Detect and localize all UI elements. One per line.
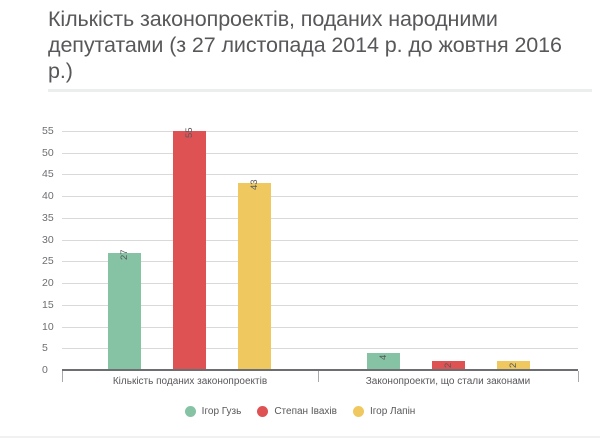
gridline (62, 153, 578, 154)
y-axis-tick-label: 15 (42, 299, 92, 311)
x-axis-category-label: Законопроекти, що стали законами (318, 376, 578, 387)
legend-label: Ігор Гузь (202, 406, 242, 417)
bar[interactable] (238, 183, 271, 370)
bar-value-label: 27 (119, 249, 130, 260)
chart-legend: Ігор ГузьСтепан ІвахівІгор Лапін (0, 406, 600, 417)
x-axis-category-label: Кількість поданих законопроектів (62, 376, 318, 387)
y-axis-tick-label: 10 (42, 321, 92, 333)
gridline (62, 131, 578, 132)
y-axis-tick-label: 40 (42, 190, 92, 202)
legend-swatch-icon (353, 406, 364, 417)
y-axis-tick-label: 20 (42, 277, 92, 289)
title-divider (48, 89, 592, 92)
page-title: Кількість законопроектів, поданих народн… (48, 6, 588, 84)
bar-value-label: 2 (508, 363, 519, 368)
bar-value-label: 2 (443, 363, 454, 368)
bar-value-label: 55 (184, 127, 195, 138)
x-axis-tick (578, 371, 579, 382)
gridline (62, 174, 578, 175)
bar-value-label: 43 (249, 180, 260, 191)
bar[interactable] (173, 131, 206, 370)
legend-item[interactable]: Ігор Лапін (353, 406, 415, 417)
bar[interactable] (108, 253, 141, 370)
y-axis-tick-label: 5 (42, 342, 92, 354)
y-axis-tick-label: 45 (42, 168, 92, 180)
legend-swatch-icon (185, 406, 196, 417)
y-axis-tick-label: 35 (42, 212, 92, 224)
legend-swatch-icon (257, 406, 268, 417)
bar-value-label: 4 (378, 354, 389, 359)
legend-label: Ігор Лапін (370, 406, 415, 417)
x-axis-line (62, 369, 578, 371)
y-axis-tick-label: 25 (42, 255, 92, 267)
gridline (62, 218, 578, 219)
y-axis-tick-label: 30 (42, 234, 92, 246)
y-axis-tick-label: 55 (42, 125, 92, 137)
legend-label: Степан Івахів (274, 406, 337, 417)
y-axis-tick-label: 50 (42, 147, 92, 159)
legend-item[interactable]: Ігор Гузь (185, 406, 242, 417)
legend-item[interactable]: Степан Івахів (257, 406, 337, 417)
gridline (62, 240, 578, 241)
bottom-divider (0, 436, 600, 438)
gridline (62, 196, 578, 197)
chart-plot-area: 5550454035302520151050275543422 (62, 131, 578, 370)
